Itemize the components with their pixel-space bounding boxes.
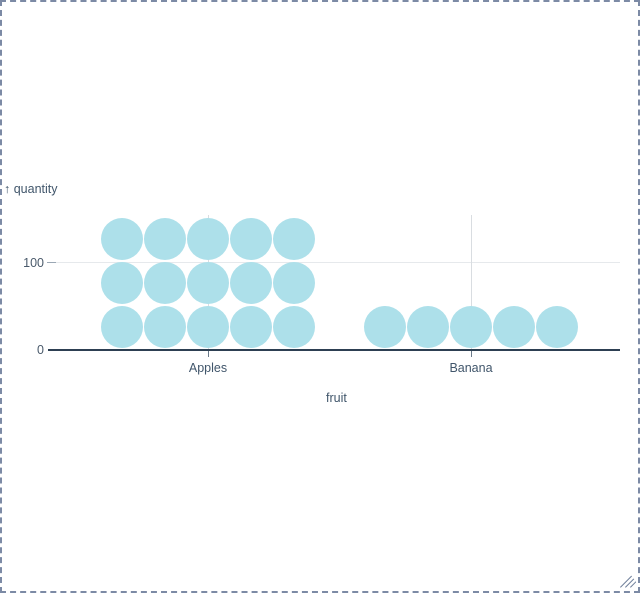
x-tick-mark-apples [208, 351, 209, 357]
dot-mark [536, 306, 578, 348]
x-axis-line [48, 349, 620, 351]
dot-mark [407, 306, 449, 348]
y-tick-label-100: 100 [2, 256, 44, 270]
dot-mark [230, 218, 272, 260]
dot-mark [144, 306, 186, 348]
dot-mark [187, 218, 229, 260]
dot-mark [144, 262, 186, 304]
dot-mark [101, 218, 143, 260]
dot-mark [144, 218, 186, 260]
figure-frame: ↑ quantity fruit 100 0 Apples Banana [0, 0, 640, 593]
dot-mark [364, 306, 406, 348]
dot-plot-chart: ↑ quantity fruit 100 0 Apples Banana [2, 2, 640, 595]
x-axis-label: fruit [326, 391, 347, 405]
dot-mark [493, 306, 535, 348]
dot-mark [187, 262, 229, 304]
dot-mark [230, 262, 272, 304]
x-tick-label-banana: Banana [449, 361, 492, 375]
resize-grip-icon[interactable] [618, 571, 636, 589]
y-tick-mark-100 [47, 262, 56, 263]
dot-mark [230, 306, 272, 348]
dot-mark [101, 262, 143, 304]
y-tick-label-0: 0 [2, 343, 44, 357]
x-tick-mark-banana [471, 351, 472, 357]
x-tick-label-apples: Apples [189, 361, 227, 375]
dot-mark [187, 306, 229, 348]
dot-mark [273, 218, 315, 260]
dot-mark [273, 262, 315, 304]
dot-mark [273, 306, 315, 348]
gridline-y-100 [56, 262, 620, 263]
dot-mark [101, 306, 143, 348]
dot-mark [450, 306, 492, 348]
y-axis-label: ↑ quantity [4, 182, 58, 196]
